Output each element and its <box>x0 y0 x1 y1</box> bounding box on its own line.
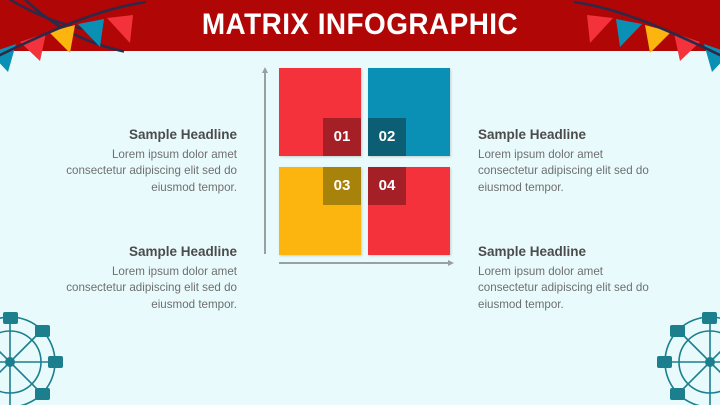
headline-quadrant-2: Sample Headline <box>478 127 660 142</box>
infographic-stage: Sample Headline Lorem ipsum dolor amet c… <box>0 51 720 405</box>
matrix-badge-3: 03 <box>323 167 361 205</box>
headline-quadrant-1: Sample Headline <box>55 127 237 142</box>
matrix-badge-1: 01 <box>323 118 361 156</box>
text-block-quadrant-1: Sample Headline Lorem ipsum dolor amet c… <box>55 127 237 196</box>
text-block-quadrant-2: Sample Headline Lorem ipsum dolor amet c… <box>478 127 660 196</box>
body-quadrant-1: Lorem ipsum dolor amet consectetur adipi… <box>55 147 237 196</box>
body-quadrant-3: Lorem ipsum dolor amet consectetur adipi… <box>55 264 237 313</box>
page-title: MATRIX INFOGRAPHIC <box>25 0 695 51</box>
text-block-quadrant-3: Sample Headline Lorem ipsum dolor amet c… <box>55 244 237 313</box>
matrix-cell-2[interactable]: 02 <box>368 68 450 156</box>
matrix-cell-4[interactable]: 04 <box>368 167 450 255</box>
matrix-grid: 01 02 03 04 <box>279 68 450 255</box>
matrix-cell-3[interactable]: 03 <box>279 167 361 255</box>
vertical-axis-arrow <box>264 71 266 254</box>
horizontal-axis-arrow <box>279 262 450 264</box>
matrix-badge-2: 02 <box>368 118 406 156</box>
body-quadrant-2: Lorem ipsum dolor amet consectetur adipi… <box>478 147 660 196</box>
headline-quadrant-4: Sample Headline <box>478 244 660 259</box>
body-quadrant-4: Lorem ipsum dolor amet consectetur adipi… <box>478 264 660 313</box>
matrix-badge-4: 04 <box>368 167 406 205</box>
text-block-quadrant-4: Sample Headline Lorem ipsum dolor amet c… <box>478 244 660 313</box>
matrix-cell-1[interactable]: 01 <box>279 68 361 156</box>
headline-quadrant-3: Sample Headline <box>55 244 237 259</box>
